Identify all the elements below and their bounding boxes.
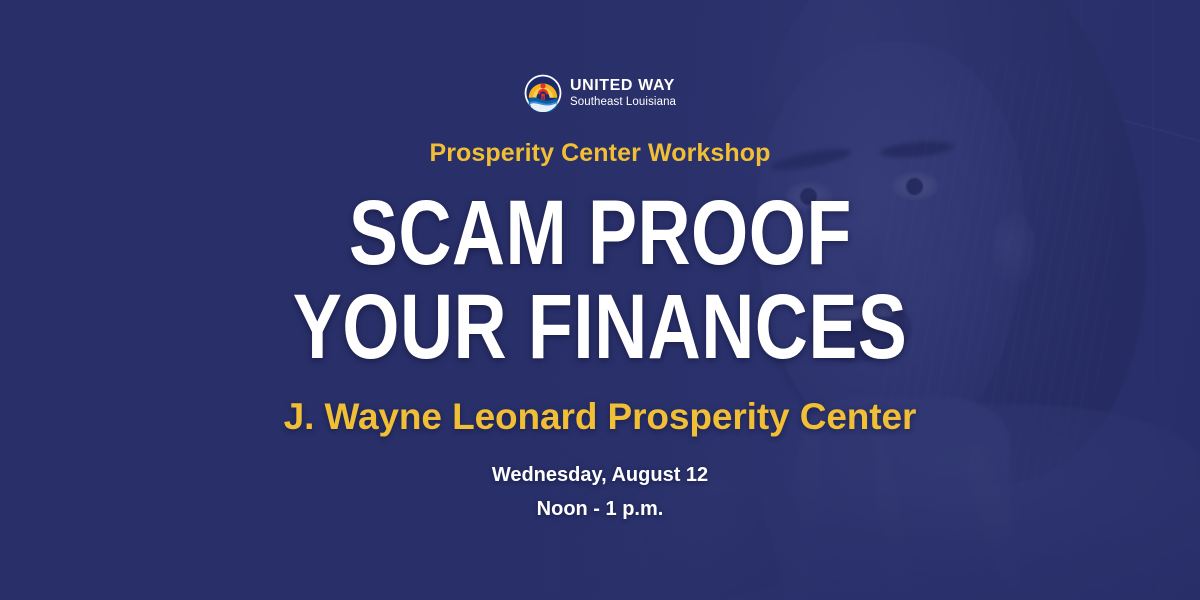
headline-line-2: YOUR FINANCES: [293, 282, 907, 372]
logo-subtitle: Southeast Louisiana: [570, 97, 676, 109]
logo-title: UNITED WAY: [570, 78, 675, 94]
united-way-logo-mark: [524, 74, 562, 112]
event-date: Wednesday, August 12: [492, 464, 708, 487]
eyebrow-text: Prosperity Center Workshop: [429, 139, 770, 168]
headline-line-1: SCAM PROOF: [349, 188, 852, 278]
banner-content: UNITED WAY Southeast Louisiana Prosperit…: [0, 0, 1200, 600]
united-way-logo: UNITED WAY Southeast Louisiana: [524, 74, 676, 112]
event-banner: UNITED WAY Southeast Louisiana Prosperit…: [0, 0, 1200, 600]
logo-wordmark: UNITED WAY Southeast Louisiana: [570, 78, 676, 109]
event-time: Noon - 1 p.m.: [537, 498, 664, 521]
venue-name: J. Wayne Leonard Prosperity Center: [284, 396, 917, 438]
